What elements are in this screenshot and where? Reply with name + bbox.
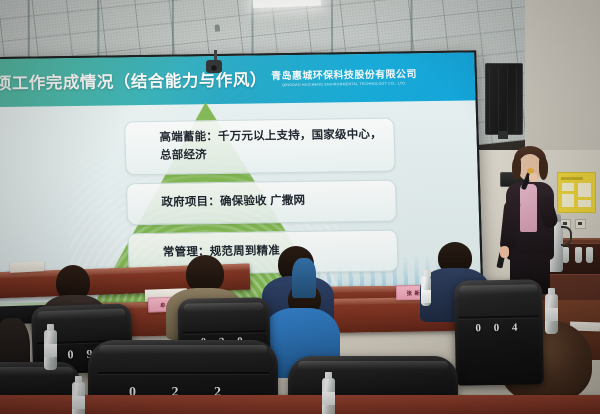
sprinkler-head-icon [214, 24, 220, 31]
shelf-bottle [562, 247, 569, 263]
conference-chair[interactable]: 0 0 4 [454, 279, 544, 386]
slide-bullet-text: 高端蓄能：千万元以上支持，国家级中心，总部经济 [125, 127, 394, 166]
slide-title: 年各项工作完成情况（结合能力与作风） [0, 66, 267, 94]
name-placard-text: 张 新 [406, 288, 420, 296]
presenter-hair-side [539, 158, 548, 180]
wall-poster [557, 172, 596, 213]
wall-outlet[interactable] [575, 219, 586, 229]
shelf-bottle [575, 247, 582, 263]
audience-torso [292, 258, 316, 298]
speaker-grill [489, 67, 519, 131]
water-bottle[interactable] [545, 294, 558, 334]
bottle-label [421, 290, 431, 303]
presenter-hand [500, 246, 509, 258]
slide-bullet-box: 高端蓄能：千万元以上支持，国家级中心，总部经济 [124, 118, 396, 176]
wall-speaker-icon [485, 63, 523, 135]
speaker-mount [498, 131, 508, 139]
conference-room-photo: 年各项工作完成情况（结合能力与作风） 青岛惠城环保科技股份有限公司 QINGDA… [0, 0, 600, 414]
camera-lens-icon [210, 64, 218, 72]
chair-number-label: 0 0 4 [455, 321, 543, 335]
presenter-hand [529, 173, 537, 182]
document-paper [10, 261, 44, 273]
chair-seam [183, 330, 266, 333]
water-bottle[interactable] [322, 378, 335, 414]
water-bottle[interactable] [72, 382, 85, 414]
bottle-label [44, 344, 57, 357]
front-table-edge [0, 395, 600, 414]
presenter-hair-side [512, 158, 521, 180]
company-logo: 青岛惠城环保科技股份有限公司 QINGDAO HUICHENG ENVIRONM… [271, 65, 417, 87]
company-name-cn: 青岛惠城环保科技股份有限公司 [271, 65, 417, 82]
bottle-label [72, 396, 85, 409]
chair-seam [98, 372, 269, 374]
slide-bullet-text: 政府项目：确保验收 广撒网 [127, 193, 315, 213]
presenter-blouse [520, 184, 537, 232]
shelf-bottle [586, 247, 593, 263]
chair-seam [459, 315, 538, 318]
water-bottle[interactable] [44, 330, 57, 370]
slide-bullet-box: 政府项目：确保验收 广撒网 [126, 180, 397, 226]
bottle-label [545, 308, 558, 321]
presenter [498, 142, 562, 292]
water-bottle[interactable] [421, 276, 431, 306]
bottle-label [322, 392, 335, 405]
